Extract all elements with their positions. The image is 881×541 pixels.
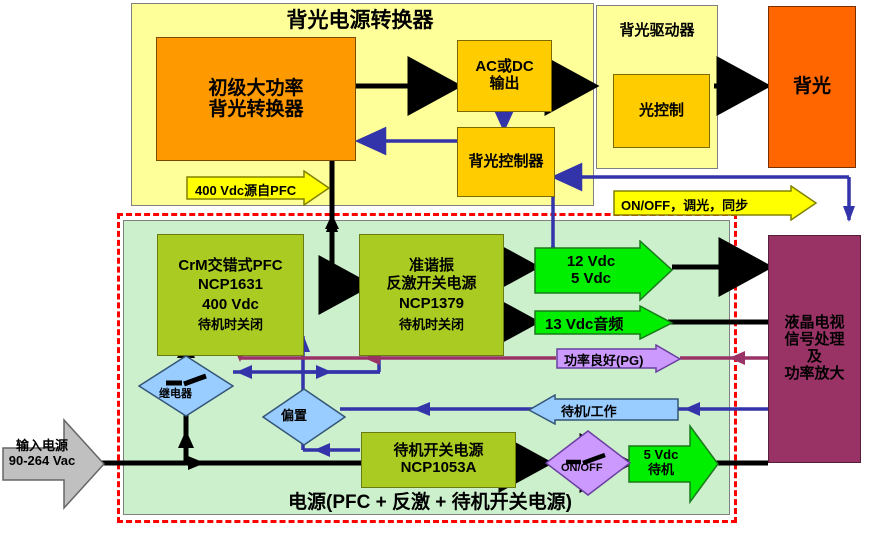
node-bias-label: 偏置 — [281, 405, 307, 424]
primary-converter-line1: 初级大功率 — [208, 78, 303, 99]
backlight-driver-title: 背光驱动器 — [598, 20, 716, 42]
node-relay-label: 继电器 — [159, 385, 192, 401]
primary-converter-line2: 背光转换器 — [208, 99, 303, 120]
pfc-line3: 400 Vdc — [202, 297, 259, 314]
block-ac-dc-output[interactable]: AC或DC 输出 — [457, 40, 552, 112]
arrow-standby-work-label: 待机/工作 — [561, 401, 617, 420]
flyback-line3: NCP1379 — [399, 296, 464, 313]
ac-dc-line1: AC或DC — [475, 59, 533, 76]
arrow-power-good-label: 功率良好(PG) — [564, 350, 643, 369]
pfc-line4: 待机时关闭 — [198, 318, 263, 333]
block-light-control[interactable]: 光控制 — [613, 74, 710, 148]
block-pfc-ncp1631[interactable]: CrM交错式PFC NCP1631 400 Vdc 待机时关闭 — [157, 234, 304, 356]
backlight-label: 背光 — [793, 76, 831, 97]
backlight-controller-label: 背光控制器 — [468, 154, 543, 171]
lcd-line1: 液晶电视 — [784, 315, 844, 332]
arrow-rail-12v-5v-labels: 12 Vdc 5 Vdc — [541, 246, 641, 296]
lcd-line2: 信号处理 — [784, 332, 844, 349]
node-onoff-switch-label: ON/OFF — [561, 462, 603, 474]
arrow-rail-5v-standby-labels: 5 Vdc 待机 — [632, 444, 690, 482]
input-power-line2: 90-264 Vac — [9, 454, 76, 469]
page-title: 背光电源转换器 — [180, 6, 540, 36]
block-lcd-tv[interactable]: 液晶电视 信号处理 及 功率放大 — [768, 235, 861, 463]
rail-5v-label: 5 Vdc — [571, 271, 611, 288]
rail-12v-label: 12 Vdc — [567, 254, 615, 271]
standby-smps-line1: 待机开关电源 — [393, 443, 483, 460]
lcd-line4: 功率放大 — [784, 366, 844, 383]
pfc-line1: CrM交错式PFC — [178, 258, 282, 275]
flyback-line1: 准谐振 — [409, 258, 454, 275]
arrow-onoff-dim-sync-label: ON/OFF，调光，同步 — [621, 195, 748, 214]
block-backlight-controller[interactable]: 背光控制器 — [457, 127, 555, 197]
rail-5v-standby-line2: 待机 — [648, 463, 674, 478]
flyback-line2: 反激开关电源 — [386, 276, 476, 293]
block-flyback-ncp1379[interactable]: 准谐振 反激开关电源 NCP1379 待机时关闭 — [359, 234, 504, 356]
lcd-line3: 及 — [807, 349, 822, 366]
arrow-rail-13v-audio-label: 13 Vdc音频 — [545, 313, 623, 334]
standby-smps-line2: NCP1053A — [401, 460, 477, 477]
light-control-label: 光控制 — [639, 103, 684, 120]
flyback-line4: 待机时关闭 — [399, 318, 464, 333]
arrow-400vdc-label: 400 Vdc源自PFC — [195, 180, 296, 199]
block-diagram: 背光电源转换器 背光驱动器 电源(PFC + 反激 + 待机开关电源) 初级大功… — [0, 0, 881, 541]
block-primary-backlight-converter[interactable]: 初级大功率 背光转换器 — [156, 37, 356, 161]
input-power-line1: 输入电源 — [16, 439, 68, 454]
ac-dc-line2: 输出 — [489, 76, 519, 93]
arrow-input-power-labels: 输入电源 90-264 Vac — [4, 432, 80, 476]
block-standby-smps-ncp1053a[interactable]: 待机开关电源 NCP1053A — [361, 432, 516, 488]
pfc-line2: NCP1631 — [198, 277, 263, 294]
rail-5v-standby-line1: 5 Vdc — [644, 448, 679, 463]
block-backlight[interactable]: 背光 — [768, 6, 856, 168]
